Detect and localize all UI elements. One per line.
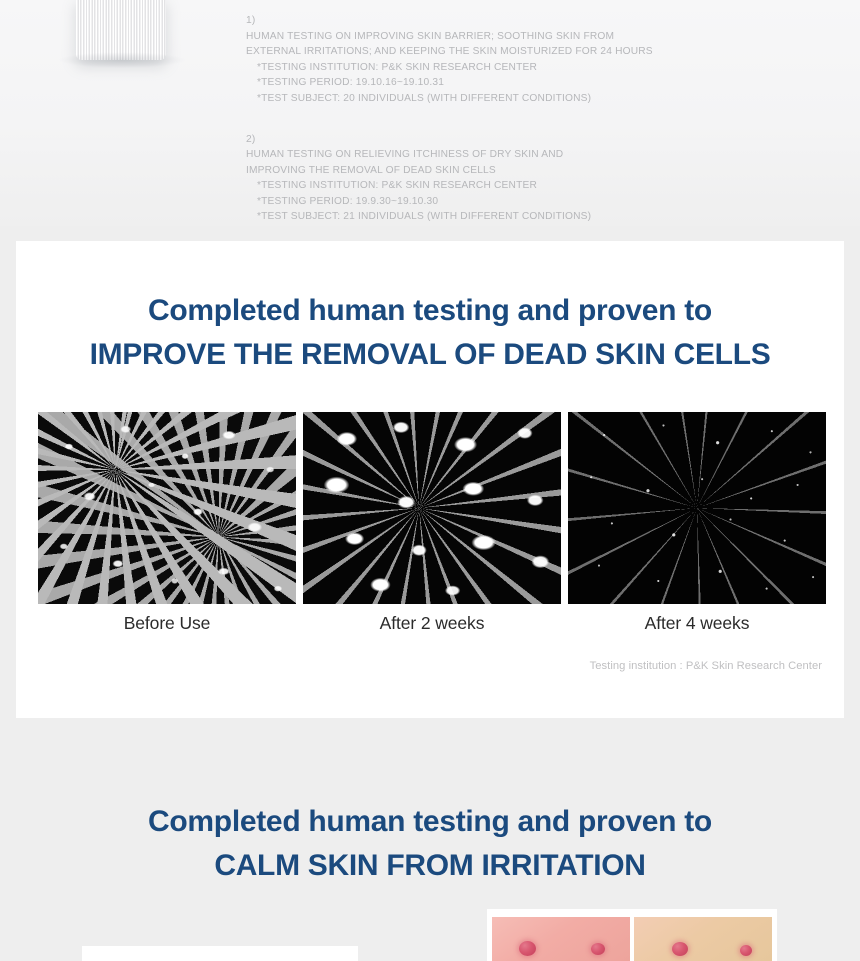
microscope-image-after-4-weeks (568, 412, 826, 604)
product-detail-page: 1) HUMAN TESTING ON IMPROVING SKIN BARRI… (0, 0, 860, 961)
test-item-details: *TESTING INSTITUTION: P&K SKIN RESEARCH … (246, 60, 846, 107)
irritation-bump (672, 942, 688, 956)
dead-skin-cells-card: Completed human testing and proven to IM… (16, 241, 844, 718)
microscope-image-before-use (38, 412, 296, 604)
testing-institution-note: Testing institution : P&K Skin Research … (590, 660, 822, 672)
test-subject-line: *TEST SUBJECT: 21 INDIVIDUALS (WITH DIFF… (257, 209, 846, 225)
test-institution-line: *TESTING INSTITUTION: P&K SKIN RESEARCH … (257, 178, 846, 194)
caption-before-use: Before Use (38, 613, 296, 634)
skin-photo-irritation-after (634, 917, 772, 961)
irritation-bump (591, 943, 605, 955)
headline-line-1: Completed human testing and proven to (16, 289, 844, 333)
caption-after-4-weeks: After 4 weeks (568, 613, 826, 634)
clinical-test-item: 1) HUMAN TESTING ON IMPROVING SKIN BARRI… (246, 0, 846, 106)
microscope-caption-row: Before Use After 2 weeks After 4 weeks (38, 613, 828, 634)
test-item-details: *TESTING INSTITUTION: P&K SKIN RESEARCH … (246, 178, 846, 225)
headline-line-2: CALM SKIN FROM IRRITATION (0, 844, 860, 888)
bottle-shadow (58, 52, 186, 68)
irritation-bump (740, 945, 752, 956)
microscope-image-row (38, 412, 828, 604)
dead-skin-headline: Completed human testing and proven to IM… (16, 289, 844, 377)
headline-line-2: IMPROVE THE REMOVAL OF DEAD SKIN CELLS (16, 333, 844, 377)
left-white-panel (82, 946, 358, 961)
calm-skin-headline: Completed human testing and proven to CA… (0, 800, 860, 888)
skin-photo-irritation-before (492, 917, 630, 961)
test-period-line: *TESTING PERIOD: 19.9.30~19.10.30 (257, 194, 846, 210)
test-item-number: 1) (246, 15, 255, 26)
test-item-heading: HUMAN TESTING ON RELIEVING ITCHINESS OF … (246, 149, 563, 175)
bottle-cap-ribbed (76, 0, 166, 60)
product-bottle-image (0, 0, 230, 80)
clinical-test-info-list: 1) HUMAN TESTING ON IMPROVING SKIN BARRI… (246, 0, 846, 226)
test-item-number: 2) (246, 134, 255, 145)
caption-after-2-weeks: After 2 weeks (303, 613, 561, 634)
test-item-heading: HUMAN TESTING ON IMPROVING SKIN BARRIER;… (246, 31, 653, 57)
test-period-line: *TESTING PERIOD: 19.10.16~19.10.31 (257, 75, 846, 91)
clinical-test-item: 2) HUMAN TESTING ON RELIEVING ITCHINESS … (246, 116, 846, 224)
headline-line-1: Completed human testing and proven to (0, 800, 860, 844)
microscope-image-after-2-weeks (303, 412, 561, 604)
test-info-section: 1) HUMAN TESTING ON IMPROVING SKIN BARRI… (0, 0, 860, 226)
irritation-bump (519, 941, 536, 956)
skin-irritation-photo-card (487, 909, 777, 961)
test-subject-line: *TEST SUBJECT: 20 INDIVIDUALS (WITH DIFF… (257, 91, 846, 107)
skin-photo-row (492, 917, 772, 961)
test-institution-line: *TESTING INSTITUTION: P&K SKIN RESEARCH … (257, 60, 846, 76)
